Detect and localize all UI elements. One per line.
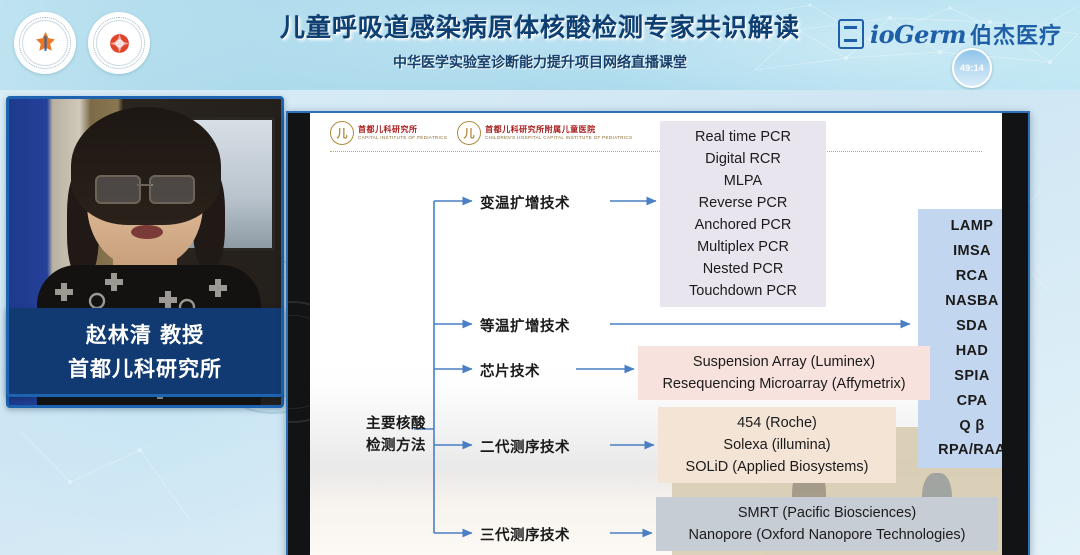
list-item: RPA/RAA <box>928 438 1002 463</box>
list-item: RCA <box>928 264 1002 289</box>
list-item: SOLiD (Applied Biosystems) <box>668 456 886 478</box>
list-item: Anchored PCR <box>670 214 816 236</box>
cma-emblem-icon <box>33 31 58 56</box>
presentation-slide[interactable]: 儿 首都儿科研究所 CAPITAL INSTITUTE OF PEDIATRIC… <box>286 111 1030 555</box>
list-item: MLPA <box>670 170 816 192</box>
slide-canvas: 儿 首都儿科研究所 CAPITAL INSTITUTE OF PEDIATRIC… <box>310 113 1002 555</box>
root-line-1: 主要核酸 <box>366 413 458 435</box>
biogerm-e-icon <box>838 19 864 49</box>
diagram: 主要核酸 检测方法 变温扩增技术 等温扩增技术 芯片技术 二代测序技术 三代测序… <box>310 113 1002 555</box>
box-isothermal-methods: LAMPIMSARCANASBASDAHADSPIACPAQ βRPA/RAA <box>918 209 1002 468</box>
list-item: Nanopore (Oxford Nanopore Technologies) <box>666 524 988 546</box>
box-chip-methods: Suspension Array (Luminex)Resequencing M… <box>638 346 930 400</box>
list-item: CPA <box>928 389 1002 414</box>
mouth <box>131 225 163 239</box>
branch-label-tgs: 三代测序技术 <box>480 524 570 545</box>
list-item: Nested PCR <box>670 258 816 280</box>
page-subtitle: 中华医学实验室诊断能力提升项目网络直播课堂 <box>0 52 1080 72</box>
brand-wordmark: ioGerm <box>870 20 966 49</box>
diagram-root-label: 主要核酸 检测方法 <box>366 413 458 458</box>
branch-label-thermal-cycling: 变温扩增技术 <box>480 192 570 213</box>
list-item: 454 (Roche) <box>668 412 886 434</box>
box-tgs-methods: SMRT (Pacific Biosciences)Nanopore (Oxfo… <box>656 497 998 551</box>
stream-timer-badge: 49:14 <box>952 48 992 88</box>
letterbox-right <box>1002 113 1028 555</box>
box-pcr-methods: Real time PCRDigital RCRMLPAReverse PCRA… <box>660 121 826 307</box>
list-item: SMRT (Pacific Biosciences) <box>666 502 988 524</box>
speaker-affiliation: 首都儿科研究所 <box>68 353 222 383</box>
list-item: SDA <box>928 314 1002 339</box>
list-item: Q β <box>928 414 1002 439</box>
biogerm-brand: ioGerm 伯杰医疗 <box>838 18 1062 50</box>
live-stream-page: 儿童呼吸道感染病原体核酸检测专家共识解读 中华医学实验室诊断能力提升项目网络直播… <box>0 0 1080 555</box>
branch-label-isothermal: 等温扩增技术 <box>480 315 570 336</box>
speaker-name: 赵林清 教授 <box>86 319 204 349</box>
list-item: Real time PCR <box>670 126 816 148</box>
box-ngs-methods: 454 (Roche)Solexa (illumina)SOLiD (Appli… <box>658 407 896 483</box>
list-item: IMSA <box>928 239 1002 264</box>
list-item: Solexa (illumina) <box>668 434 886 456</box>
speaker-nameplate: 赵林清 教授 首都儿科研究所 <box>6 308 284 397</box>
glasses-icon <box>95 175 195 201</box>
list-item: Digital RCR <box>670 148 816 170</box>
hair-top <box>71 107 221 225</box>
list-item: Touchdown PCR <box>670 280 816 302</box>
list-item: HAD <box>928 339 1002 364</box>
list-item: Suspension Array (Luminex) <box>648 351 920 373</box>
root-line-2: 检测方法 <box>366 435 458 457</box>
list-item: Multiplex PCR <box>670 236 816 258</box>
list-item: NASBA <box>928 289 1002 314</box>
list-item: Reverse PCR <box>670 192 816 214</box>
brand-chinese-name: 伯杰医疗 <box>970 18 1062 50</box>
branch-label-ngs: 二代测序技术 <box>480 436 570 457</box>
list-item: Resequencing Microarray (Affymetrix) <box>648 373 920 395</box>
list-item: SPIA <box>928 364 1002 389</box>
branch-label-chip: 芯片技术 <box>480 360 540 381</box>
list-item: LAMP <box>928 214 1002 239</box>
page-header: 儿童呼吸道感染病原体核酸检测专家共识解读 中华医学实验室诊断能力提升项目网络直播… <box>0 0 1080 90</box>
chaph-emblem-icon <box>107 31 132 56</box>
